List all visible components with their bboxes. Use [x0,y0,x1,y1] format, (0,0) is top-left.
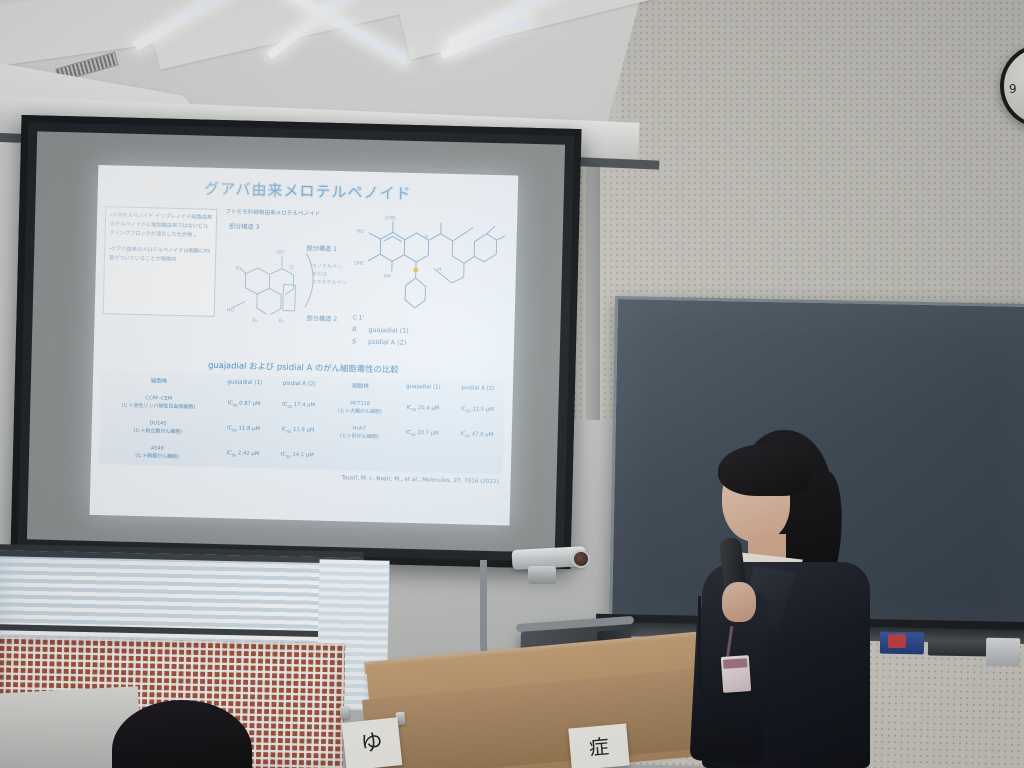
atom-label-r3: R₃ [236,265,242,271]
atom-label-cho: CHO [385,215,396,221]
ic50-left-psidial: IC50 11.9 µM [271,418,325,444]
cell-line-left: CCRF–CEM (ヒト急性リンパ球性白血病細胞) [101,389,217,417]
slide-upper-content: ・メロテルペノイド イソプレノイド経路由来のテルペノイドに脂肪酸由来ではないビル… [94,202,518,363]
cell-line-right-desc: (ヒト大腸がん細胞) [338,408,382,415]
eraser [928,639,994,656]
atom-label-r1: R₁ [252,318,258,324]
cell-line-left-desc: (ヒト肺腺がん細胞) [135,452,179,459]
ic50-left-psidial: IC50 14.1 µM [270,443,324,469]
note-paragraph-1: ・メロテルペノイド イソプレノイド経路由来のテルペノイドに脂肪酸由来ではないビル… [110,211,213,241]
podium-sign-left: ゆ [342,717,403,768]
th-psidial-right: psidial A (2) [451,380,505,399]
cell-line-left: DU145 (ヒト前立腺がん細胞) [100,414,216,442]
ic50-left-guajadial: IC50 2.42 µM [215,442,271,468]
clock-number-9: 9 [1009,82,1017,96]
badge-stripe [723,658,748,669]
atom-label-oh: OH [276,249,284,255]
middle-heading: フトモモ科植物由来メロテルペノイド [225,207,375,219]
cell-line-left-desc: (ヒト急性リンパ球性白血病細胞) [121,402,195,410]
atom-label-h: H [438,267,442,273]
document-camera-body [528,566,556,584]
camera-lens-icon [572,550,590,568]
cell-line-right [324,445,394,472]
cytotoxicity-table: 細胞株 guajadial (1) psidial A (2) 細胞株 guaj… [99,371,504,474]
structure-legend: R guajadial (1) S psidial A (2) [352,323,511,351]
ic50-right-guajadial: IC50 20.4 µM [395,397,451,423]
bracket-note-line1: モノテルペン、 [312,263,347,270]
cell-line-left: A549 (ヒト肺腺がん細胞) [99,439,215,467]
guajadial-structure-diagram: CHO HO OHC OH O H [353,208,508,318]
atom-label-oh2: OH [384,273,391,279]
legend-row-s: S psidial A (2) [352,336,510,352]
ic50-left-guajadial: IC50 0.87 µM [216,392,272,418]
legend-name-guajadial: guajadial (1) [368,326,409,335]
ic50-right-psidial: IC50 47.0 µM [450,423,504,449]
box-item-white [986,638,1020,667]
atom-label-r2: R₂ [278,319,284,325]
th-guajadial-right: guajadial (1) [395,379,451,398]
sign-clip-left [339,706,349,720]
legend-config-r: R [352,323,366,336]
cell-line-right-desc: (ヒト肝がん細胞) [340,433,379,440]
presenter-bangs [718,444,810,496]
slide-note-box: ・メロテルペノイド イソプレノイド経路由来のテルペノイドに脂肪酸由来ではないビル… [103,206,218,317]
atom-label-ho2: HO [357,229,365,235]
note-paragraph-2: ・グアバ由来のメロテルペノイドは側鎖にPh基がついていることが特徴的 [109,246,211,267]
cell-line-right: HCT116 (ヒト大腸がん細胞) [325,395,395,422]
ic50-right-psidial [449,448,503,474]
ic50-left-psidial: IC50 17.4 µM [272,393,326,419]
th-psidial-left: psidial A (2) [272,375,326,394]
name-badge [721,655,751,693]
bracket-note-line3: セスキテルペン [311,279,346,286]
bracket-note-line2: または [312,271,327,277]
ic50-right-guajadial [393,447,449,473]
projection-screen-surface: グアバ由来メロテルペノイド ・メロテルペノイド イソプレノイド経路由来のテルペノ… [27,131,565,552]
atom-label-o2: O [425,234,429,240]
slide-structure-column: CHO HO OHC OH O H C 1' [352,208,513,351]
th-guajadial-left: guajadial (1) [217,374,273,393]
legend-config-s: S [352,336,366,349]
atom-label-ohc: OHC [354,260,364,266]
th-cellline-right: 細胞株 [325,377,395,397]
projected-slide: グアバ由来メロテルペノイド ・メロテルペノイド イソプレノイド経路由来のテルペノ… [90,165,519,526]
presenter [684,430,894,768]
slide-middle-column: フトモモ科植物由来メロテルペノイド 部分構造 3 部分構造 1 部分構造 2 [225,207,375,224]
atom-label-o: O [290,265,294,271]
slide-title: グアバ由来メロテルペノイド [98,175,518,207]
podium-sign-right: 症 [568,724,629,768]
legend-name-psidial: psidial A (2) [368,338,406,347]
ic50-right-guajadial: IC50 20.7 µM [394,422,450,448]
highlight-marker [413,268,418,273]
atom-label-ho: HO [227,307,235,313]
ic50-left-guajadial: IC50 11.8 µM [215,417,271,443]
ic50-right-psidial: IC50 11.5 µM [450,398,504,424]
projection-screen-frame: グアバ由来メロテルペノイド ・メロテルペノイド イソプレノイド経路由来のテルペノ… [11,115,582,569]
presentation-scene: 12 9 グアバ由来メロテルペノイド ・メロテルペノイド イソプレノイド経路由来… [0,0,1024,768]
cell-line-right: Huh7 (ヒト肝がん細胞) [324,420,394,447]
cell-line-left-desc: (ヒト前立腺がん細胞) [133,427,182,434]
